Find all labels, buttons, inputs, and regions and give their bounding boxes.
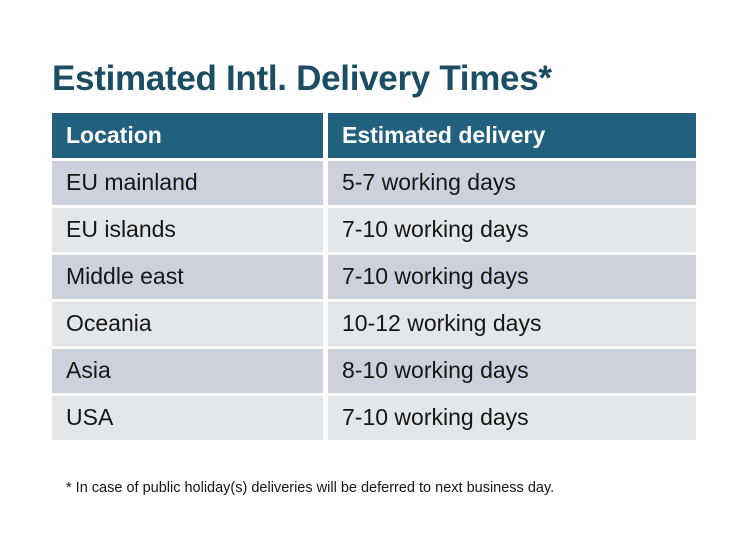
cell-estimated-delivery: 7-10 working days xyxy=(328,396,696,440)
cell-estimated-delivery: 5-7 working days xyxy=(328,161,696,205)
cell-estimated-delivery: 10-12 working days xyxy=(328,302,696,346)
cell-location: Asia xyxy=(52,349,323,393)
table-row: Middle east 7-10 working days xyxy=(52,255,696,299)
column-header-estimated-delivery: Estimated delivery xyxy=(328,113,696,158)
table-row: Asia 8-10 working days xyxy=(52,349,696,393)
cell-location: Middle east xyxy=(52,255,323,299)
column-header-location: Location xyxy=(52,113,323,158)
cell-estimated-delivery: 7-10 working days xyxy=(328,255,696,299)
cell-location: Oceania xyxy=(52,302,323,346)
delivery-times-table: Location Estimated delivery EU mainland … xyxy=(47,110,701,443)
delivery-times-page: Estimated Intl. Delivery Times* Location… xyxy=(0,0,745,536)
cell-location: EU mainland xyxy=(52,161,323,205)
cell-location: EU islands xyxy=(52,208,323,252)
footnote: * In case of public holiday(s) deliverie… xyxy=(66,480,554,496)
cell-estimated-delivery: 8-10 working days xyxy=(328,349,696,393)
cell-estimated-delivery: 7-10 working days xyxy=(328,208,696,252)
table-body: EU mainland 5-7 working days EU islands … xyxy=(52,161,696,440)
page-title: Estimated Intl. Delivery Times* xyxy=(52,59,552,99)
cell-location: USA xyxy=(52,396,323,440)
table-row: Oceania 10-12 working days xyxy=(52,302,696,346)
table-row: USA 7-10 working days xyxy=(52,396,696,440)
table-row: EU islands 7-10 working days xyxy=(52,208,696,252)
table-header-row: Location Estimated delivery xyxy=(52,113,696,158)
table-header: Location Estimated delivery xyxy=(52,113,696,158)
table-row: EU mainland 5-7 working days xyxy=(52,161,696,205)
